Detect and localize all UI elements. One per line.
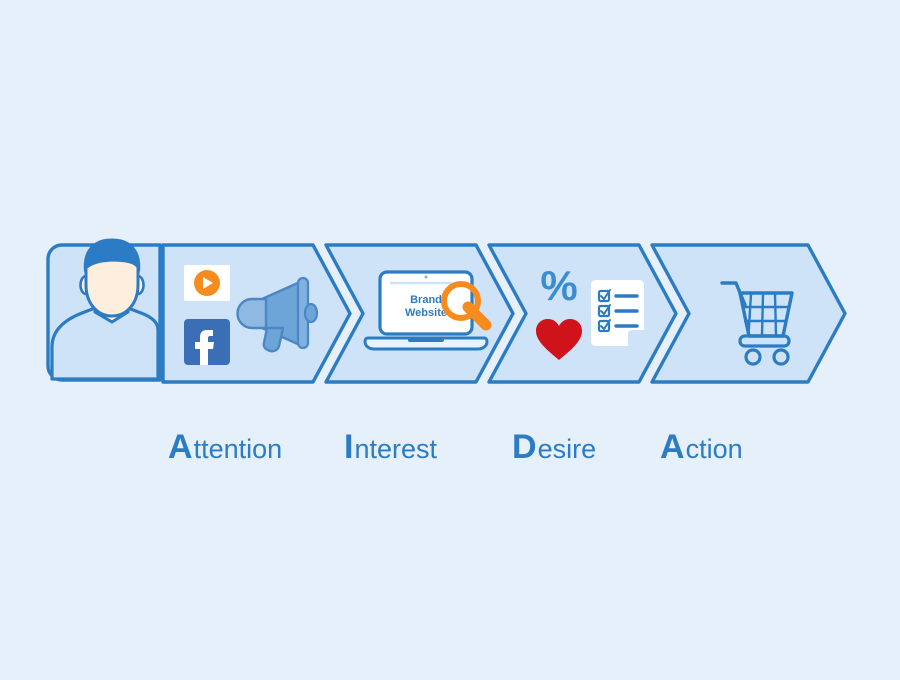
customer-avatar xyxy=(48,240,160,380)
svg-text:Action: Action xyxy=(660,428,743,466)
label-initial-attention: A xyxy=(168,428,193,466)
label-rest-desire: esire xyxy=(538,434,597,464)
svg-text:Interest: Interest xyxy=(344,428,437,466)
percent-icon: % xyxy=(540,262,577,309)
label-rest-interest: nterest xyxy=(354,434,437,464)
svg-text:Desire: Desire xyxy=(512,428,596,466)
checklist-document-icon xyxy=(591,280,644,346)
laptop-screen-line1: Brand xyxy=(410,294,442,306)
stage-label-interest: Interest xyxy=(344,428,437,466)
label-initial-desire: D xyxy=(512,428,537,466)
stage-label-attention: Attention xyxy=(168,428,282,466)
stage-label-action: Action xyxy=(660,428,743,466)
label-initial-action: A xyxy=(660,428,685,466)
diagram-stage: Brand Website % xyxy=(0,0,900,680)
stage-label-desire: Desire xyxy=(512,428,596,466)
label-rest-action: ction xyxy=(686,434,743,464)
video-play-icon[interactable] xyxy=(184,265,230,301)
svg-text:Attention: Attention xyxy=(168,428,282,466)
laptop-screen-line2: Website xyxy=(405,307,447,319)
label-initial-interest: I xyxy=(344,428,353,466)
label-rest-attention: ttention xyxy=(194,434,283,464)
facebook-icon[interactable] xyxy=(184,319,230,365)
